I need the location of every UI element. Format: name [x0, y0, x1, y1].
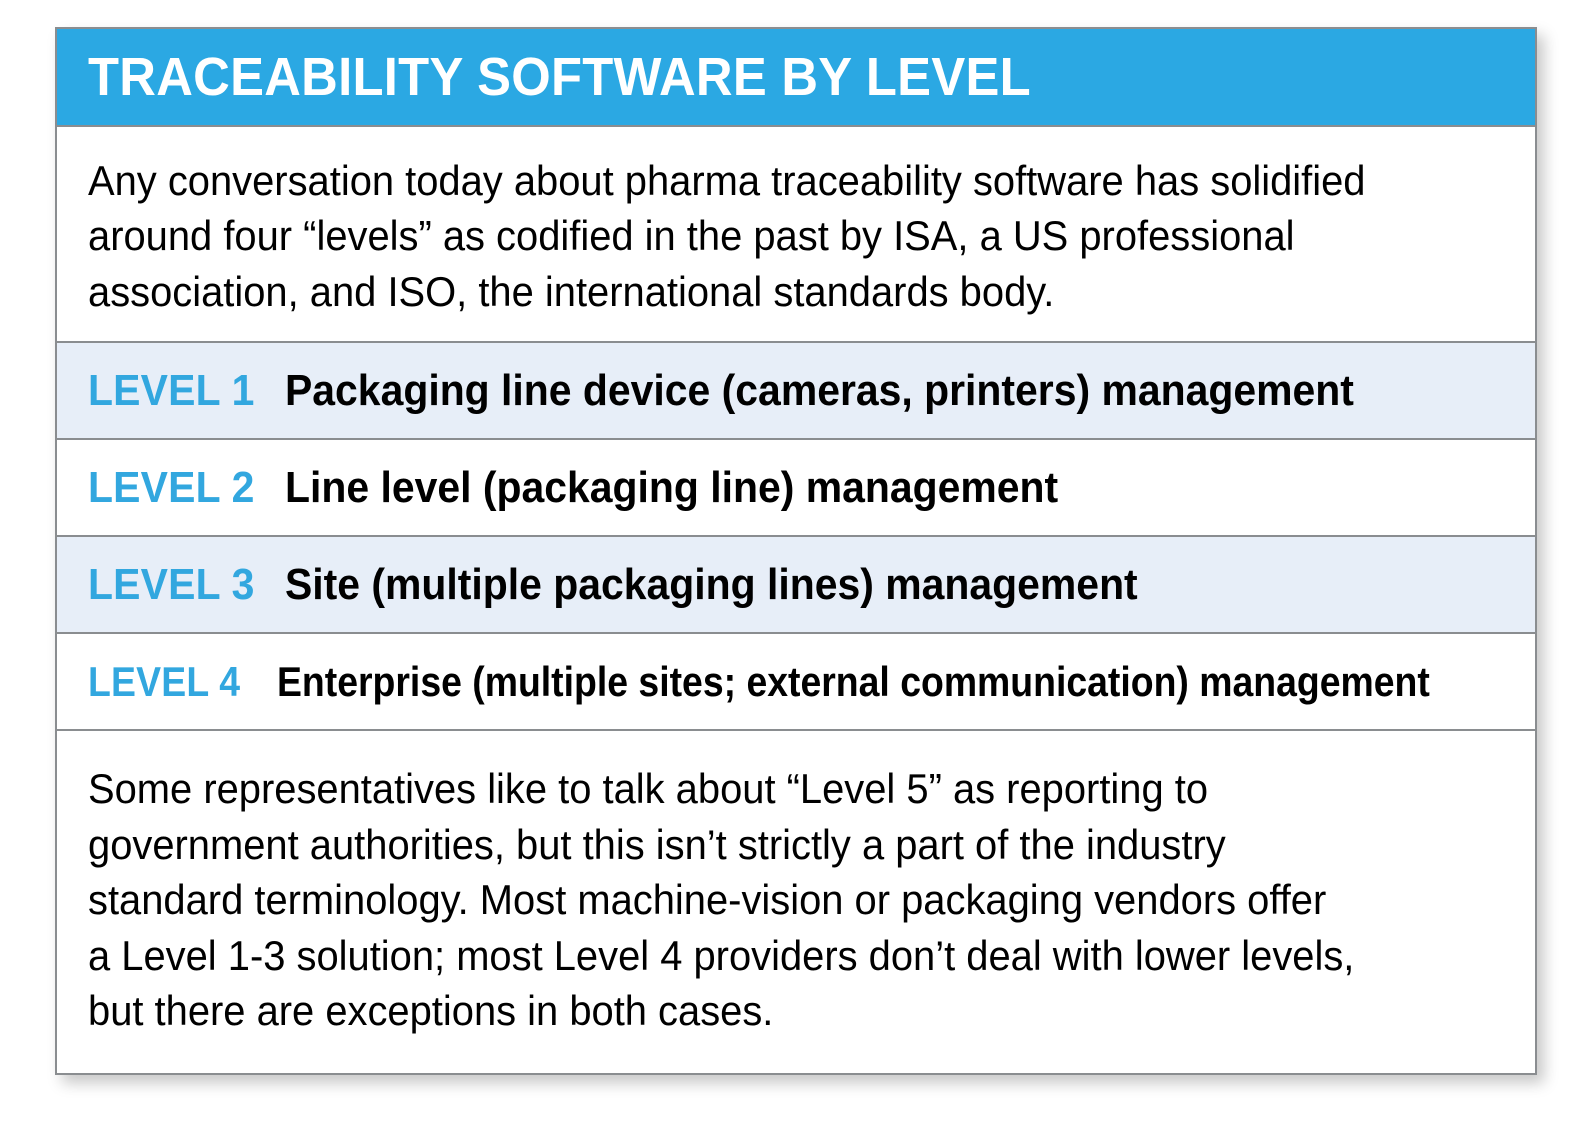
level-2-label: LEVEL 2 [88, 466, 255, 510]
intro-line-2: around four “levels” as codified in the … [88, 208, 1503, 263]
outro-line-1: Some representatives like to talk about … [88, 761, 1503, 816]
level-3-description: Site (multiple packaging lines) manageme… [285, 563, 1138, 607]
level-2-description: Line level (packaging line) management [285, 466, 1058, 510]
level-1-description: Packaging line device (cameras, printers… [285, 369, 1354, 413]
level-row: LEVEL 3 Site (multiple packaging lines) … [57, 537, 1535, 634]
intro-line-3: association, and ISO, the international … [88, 264, 1503, 319]
outro-line-3: standard terminology. Most machine-visio… [88, 872, 1503, 927]
level-1-label: LEVEL 1 [88, 369, 255, 413]
outro-line-2: government authorities, but this isn’t s… [88, 817, 1503, 872]
traceability-levels-card: TRACEABILITY SOFTWARE BY LEVEL Any conve… [55, 27, 1537, 1075]
outro-line-5: but there are exceptions in both cases. [88, 983, 1503, 1038]
card-header: TRACEABILITY SOFTWARE BY LEVEL [57, 29, 1535, 127]
level-row: LEVEL 1 Packaging line device (cameras, … [57, 343, 1535, 440]
level-row: LEVEL 2 Line level (packaging line) mana… [57, 440, 1535, 537]
intro-line-1: Any conversation today about pharma trac… [88, 153, 1503, 208]
intro-paragraph-block: Any conversation today about pharma trac… [57, 127, 1535, 343]
outro-paragraph-block: Some representatives like to talk about … [57, 731, 1535, 1072]
level-3-label: LEVEL 3 [88, 563, 255, 607]
level-4-description: Enterprise (multiple sites; external com… [277, 661, 1430, 703]
outro-paragraph: Some representatives like to talk about … [88, 761, 1503, 1038]
intro-paragraph: Any conversation today about pharma trac… [88, 153, 1503, 319]
outro-line-4: a Level 1-3 solution; most Level 4 provi… [88, 928, 1503, 983]
level-row: LEVEL 4 Enterprise (multiple sites; exte… [57, 634, 1535, 731]
level-4-label: LEVEL 4 [88, 661, 240, 703]
card-title: TRACEABILITY SOFTWARE BY LEVEL [88, 50, 1031, 104]
